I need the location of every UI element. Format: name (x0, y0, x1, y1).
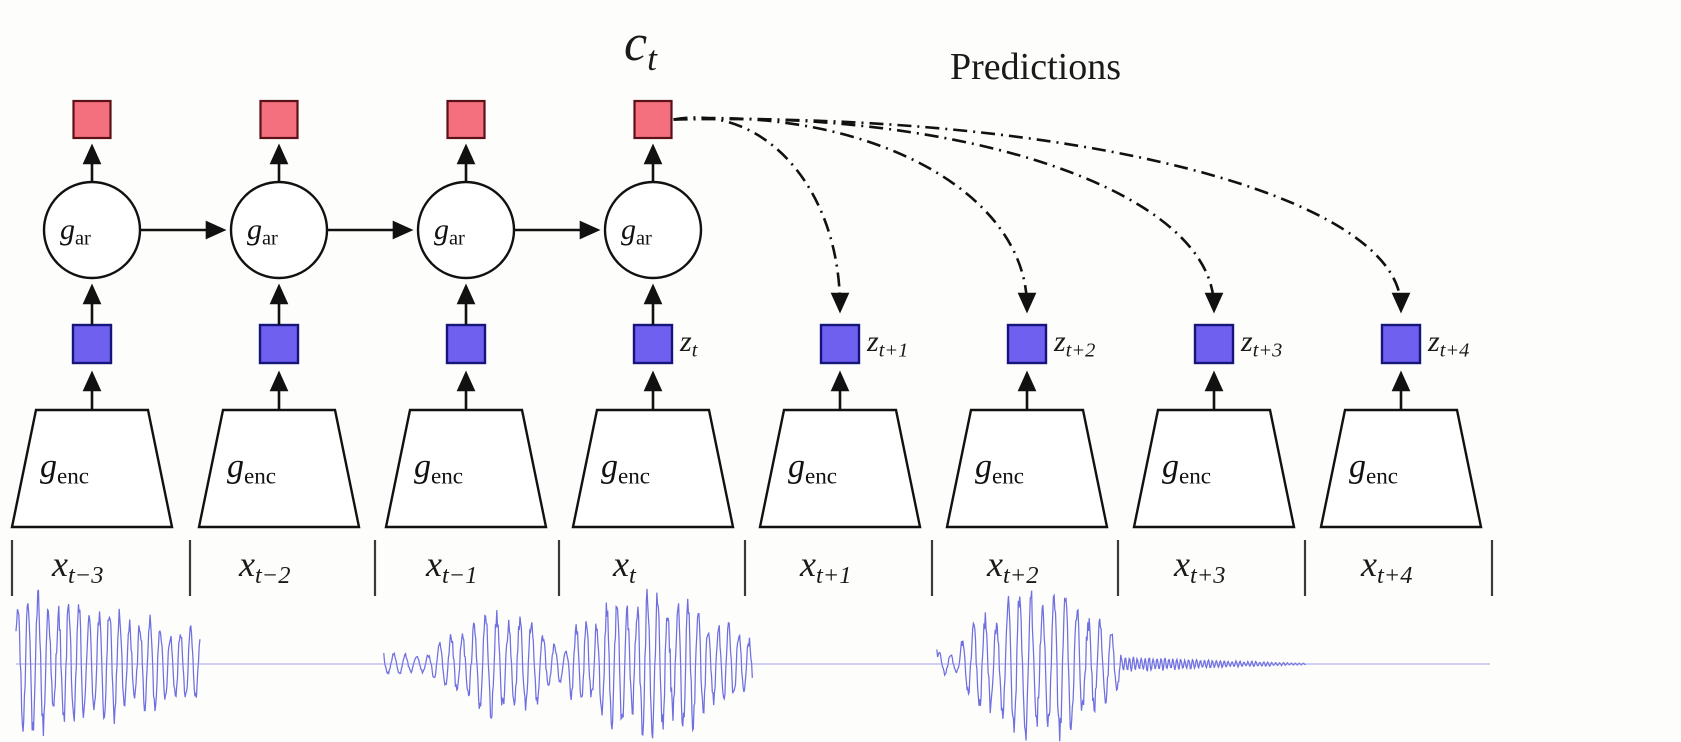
latent-label: zt+3 (1241, 327, 1282, 361)
gar-circle (418, 182, 514, 278)
prediction-curve (674, 119, 1215, 307)
context-square-group (74, 101, 672, 138)
latent-label-base: z (1054, 325, 1066, 358)
encoder-label-base: g (227, 448, 244, 485)
encoder-label: genc (1349, 448, 1398, 490)
cpc-architecture-diagram (0, 0, 1681, 742)
encoder-trapezoid (386, 410, 546, 527)
gar-circle (605, 182, 701, 278)
timestep-divider-group (12, 540, 1492, 596)
timestep-label: xt+3 (1174, 546, 1226, 588)
encoder-label-base: g (40, 448, 57, 485)
latent-square (73, 325, 111, 363)
encoder-label: genc (40, 448, 89, 490)
autoregressive-arrow-group (92, 150, 653, 325)
gar-label: gar (621, 213, 652, 251)
latent-label-subscript: t+1 (879, 340, 909, 362)
timestep-label: xt−2 (239, 546, 291, 588)
latent-label-subscript: t (692, 340, 698, 362)
encoder-trapezoid (947, 410, 1107, 527)
context-square (74, 101, 111, 138)
gar-label: gar (60, 213, 91, 251)
encoder-label: genc (601, 448, 650, 490)
encoder-trapezoid (1134, 410, 1294, 527)
encoder-label-base: g (788, 448, 805, 485)
prediction-curve (674, 119, 1402, 307)
context-square (261, 101, 298, 138)
encoder-label: genc (975, 448, 1024, 490)
latent-square (634, 325, 672, 363)
timestep-label-base: x (1174, 544, 1190, 584)
gar-label-subscript: ar (75, 228, 91, 250)
encoder-label-subscript: enc (805, 463, 837, 489)
timestep-label-base: x (239, 544, 255, 584)
timestep-label-subscript: t (629, 562, 636, 589)
latent-label-base: z (867, 325, 879, 358)
latent-square (447, 325, 485, 363)
timestep-label-subscript: t+2 (1003, 562, 1039, 589)
context-vector-label: ct (624, 18, 657, 76)
context-vector-base: c (624, 15, 647, 72)
predictions-label: Predictions (950, 48, 1121, 86)
gar-label-base: g (434, 213, 449, 246)
encoder-label-base: g (1349, 448, 1366, 485)
encoder-label-base: g (601, 448, 618, 485)
gar-label-base: g (60, 213, 75, 246)
gar-label-base: g (621, 213, 636, 246)
encoder-trapezoid (760, 410, 920, 527)
encoder-label: genc (1162, 448, 1211, 490)
encoder-label-base: g (414, 448, 431, 485)
encoder-label: genc (788, 448, 837, 490)
latent-label-subscript: t+3 (1253, 340, 1283, 362)
gar-label-subscript: ar (636, 228, 652, 250)
gar-circle (231, 182, 327, 278)
latent-square (1382, 325, 1420, 363)
timestep-label-subscript: t−3 (68, 562, 104, 589)
latent-label: zt+4 (1428, 327, 1469, 361)
latent-label-subscript: t+4 (1440, 340, 1470, 362)
gar-label-subscript: ar (262, 228, 278, 250)
timestep-label: xt+4 (1361, 546, 1413, 588)
encoder-label: genc (414, 448, 463, 490)
latent-square (1195, 325, 1233, 363)
encoder-label: genc (227, 448, 276, 490)
latent-label: zt+2 (1054, 327, 1095, 361)
latent-label-base: z (1241, 325, 1253, 358)
timestep-label: xt (613, 546, 636, 588)
encoder-trapezoid (12, 410, 172, 527)
gar-label: gar (434, 213, 465, 251)
latent-label: zt (680, 327, 697, 361)
encoder-label-base: g (1162, 448, 1179, 485)
timestep-label-subscript: t−2 (255, 562, 291, 589)
latent-square-group (73, 325, 1420, 363)
gar-label: gar (247, 213, 278, 251)
timestep-label: xt+2 (987, 546, 1039, 588)
figure-canvas: ct Predictions gencgarxt−3gencgarxt−2gen… (0, 0, 1681, 742)
timestep-label-base: x (800, 544, 816, 584)
timestep-label-subscript: t+4 (1377, 562, 1413, 589)
timestep-label-subscript: t+3 (1190, 562, 1226, 589)
context-square (635, 101, 672, 138)
timestep-label-subscript: t+1 (816, 562, 852, 589)
latent-square (260, 325, 298, 363)
encoder-label-subscript: enc (431, 463, 463, 489)
timestep-label-base: x (613, 544, 629, 584)
encoder-label-subscript: enc (1179, 463, 1211, 489)
gar-label-subscript: ar (449, 228, 465, 250)
encoder-label-base: g (975, 448, 992, 485)
timestep-label: xt−3 (52, 546, 104, 588)
latent-label-base: z (1428, 325, 1440, 358)
encoder-label-subscript: enc (244, 463, 276, 489)
latent-label-subscript: t+2 (1066, 340, 1096, 362)
prediction-curve-group (674, 117, 1402, 307)
audio-waveform (16, 589, 1490, 741)
encoder-trapezoid (199, 410, 359, 527)
encoder-label-subscript: enc (992, 463, 1024, 489)
latent-label: zt+1 (867, 327, 908, 361)
timestep-label-base: x (987, 544, 1003, 584)
encoder-output-arrows (92, 377, 1401, 410)
timestep-label-base: x (426, 544, 442, 584)
encoder-trapezoid (573, 410, 733, 527)
timestep-label: xt+1 (800, 546, 852, 588)
prediction-curve (674, 118, 1028, 307)
context-vector-subscript: t (647, 38, 657, 78)
timestep-label-base: x (52, 544, 68, 584)
encoder-label-subscript: enc (1366, 463, 1398, 489)
gar-circle (44, 182, 140, 278)
timestep-label: xt−1 (426, 546, 478, 588)
latent-square (821, 325, 859, 363)
gar-label-base: g (247, 213, 262, 246)
latent-label-base: z (680, 325, 692, 358)
encoder-trapezoid (1321, 410, 1481, 527)
encoder-label-subscript: enc (57, 463, 89, 489)
waveform-light-trace (16, 589, 1490, 741)
context-square (448, 101, 485, 138)
encoder-label-subscript: enc (618, 463, 650, 489)
timestep-label-base: x (1361, 544, 1377, 584)
latent-square (1008, 325, 1046, 363)
timestep-label-subscript: t−1 (442, 562, 478, 589)
